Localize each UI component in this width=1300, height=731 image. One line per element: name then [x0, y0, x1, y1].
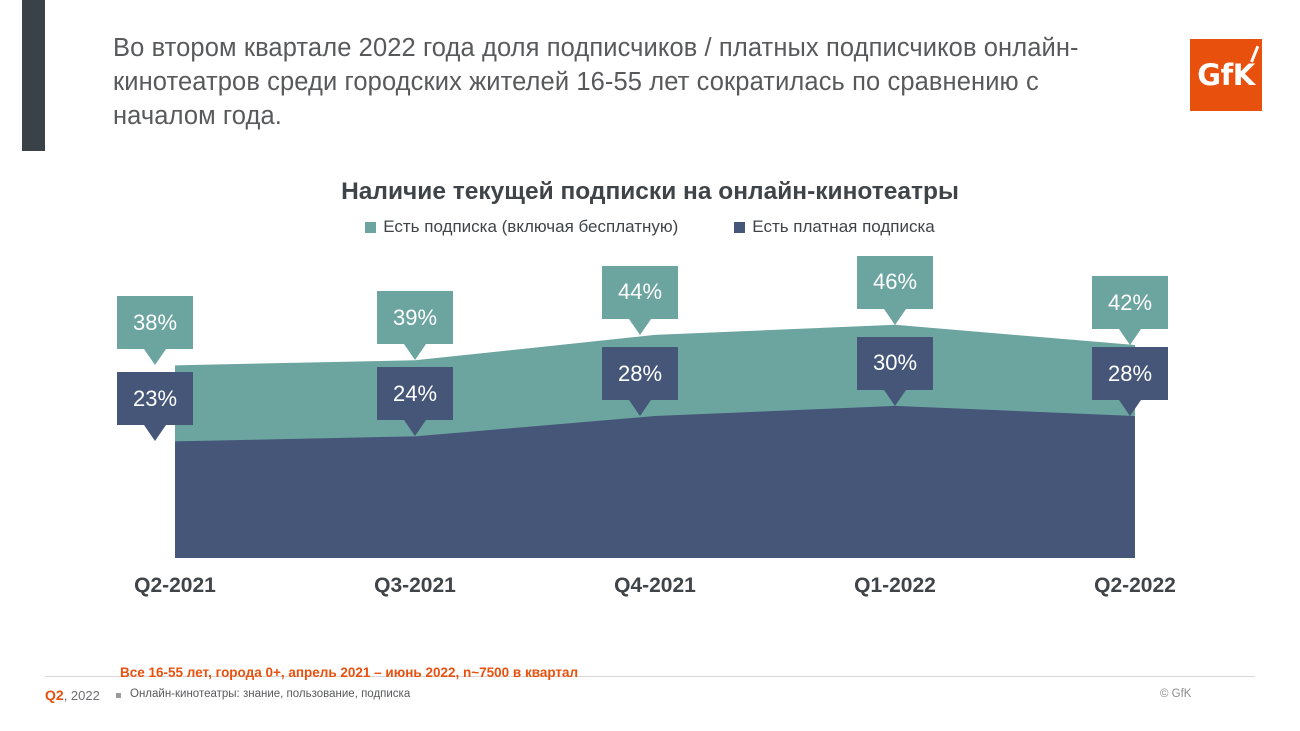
- footer-quarter-label: Q2: [45, 687, 64, 703]
- data-label-paid-q1-2022: 30%: [857, 337, 933, 390]
- legend-label-paid-subscription: Есть платная подписка: [752, 217, 934, 237]
- data-label-text: 28%: [1108, 361, 1152, 387]
- data-label-paid-q2-2021: 23%: [117, 372, 193, 425]
- footer-topic-text: Онлайн-кинотеатры: знание, пользование, …: [130, 688, 410, 700]
- x-axis-label-q2-2022: Q2-2022: [1045, 574, 1225, 598]
- legend-swatch-navy: [734, 222, 745, 233]
- x-axis: Q2-2021Q3-2021Q4-2021Q1-2022Q2-2022: [0, 574, 1300, 604]
- data-label-text: 42%: [1108, 290, 1152, 316]
- x-axis-label-q2-2021: Q2-2021: [85, 574, 265, 598]
- legend-swatch-teal: [365, 222, 376, 233]
- callout-tail: [1119, 329, 1141, 345]
- legend-item-subscription[interactable]: Есть подписка (включая бесплатную): [365, 217, 678, 237]
- footer-quarter: Q2, 2022: [45, 687, 100, 703]
- footer-year-label: , 2022: [64, 688, 100, 703]
- data-label-text: 39%: [393, 305, 437, 331]
- data-label-text: 38%: [133, 310, 177, 336]
- page-headline: Во втором квартале 2022 года доля подпис…: [113, 31, 1133, 133]
- data-label-paid-q3-2021: 24%: [377, 367, 453, 420]
- data-label-subscription-q1-2022: 46%: [857, 256, 933, 309]
- callout-tail: [144, 425, 166, 441]
- data-label-paid-q2-2022: 28%: [1092, 347, 1168, 400]
- gfk-logo: GfK: [1190, 39, 1262, 111]
- callout-tail: [404, 344, 426, 360]
- data-label-text: 46%: [873, 269, 917, 295]
- data-label-text: 23%: [133, 386, 177, 412]
- footer-source-text: Все 16-55 лет, города 0+, апрель 2021 – …: [120, 665, 578, 680]
- data-label-text: 30%: [873, 350, 917, 376]
- data-label-text: 24%: [393, 381, 437, 407]
- data-label-subscription-q4-2021: 44%: [602, 266, 678, 319]
- data-label-subscription-q2-2022: 42%: [1092, 276, 1168, 329]
- gfk-logo-text: GfK: [1190, 39, 1262, 111]
- data-label-subscription-q3-2021: 39%: [377, 291, 453, 344]
- footer-copyright: © GfK: [1160, 688, 1191, 700]
- callout-tail: [1119, 400, 1141, 416]
- x-axis-label-q4-2021: Q4-2021: [565, 574, 745, 598]
- chart-title: Наличие текущей подписки на онлайн-кинот…: [0, 178, 1300, 206]
- area-series-paid-subscription: [175, 406, 1135, 558]
- callout-tail: [884, 390, 906, 406]
- legend-label-subscription: Есть подписка (включая бесплатную): [383, 217, 678, 237]
- x-axis-label-q1-2022: Q1-2022: [805, 574, 985, 598]
- left-accent-bar: [22, 0, 45, 151]
- data-label-text: 28%: [618, 361, 662, 387]
- callout-tail: [629, 319, 651, 335]
- chart-legend: Есть подписка (включая бесплатную) Есть …: [0, 217, 1300, 237]
- data-label-subscription-q2-2021: 38%: [117, 296, 193, 349]
- data-label-paid-q4-2021: 28%: [602, 347, 678, 400]
- callout-tail: [404, 420, 426, 436]
- callout-tail: [629, 400, 651, 416]
- x-axis-label-q3-2021: Q3-2021: [325, 574, 505, 598]
- footer-bullet-icon: [116, 693, 121, 698]
- data-label-text: 44%: [618, 279, 662, 305]
- callout-tail: [884, 309, 906, 325]
- legend-item-paid-subscription[interactable]: Есть платная подписка: [734, 217, 934, 237]
- callout-tail: [144, 349, 166, 365]
